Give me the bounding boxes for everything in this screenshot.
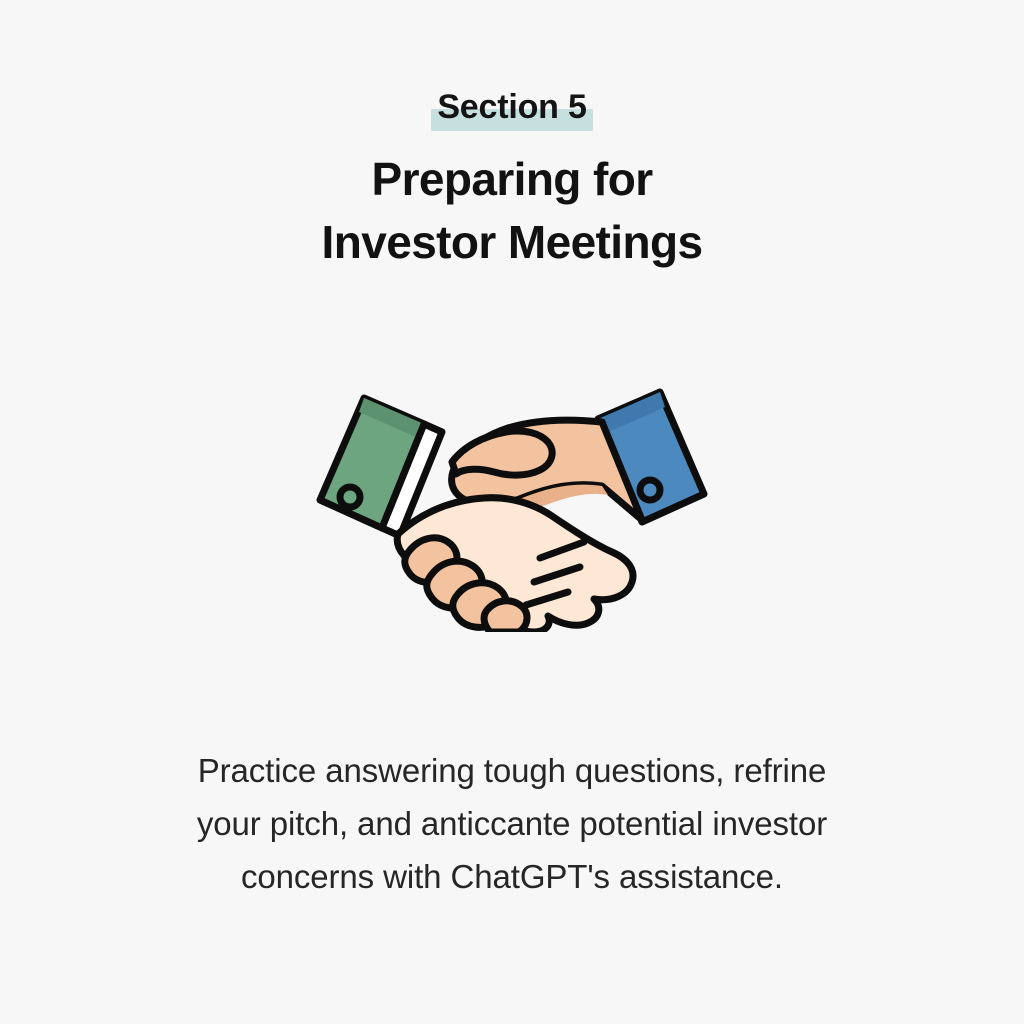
body-text: Practice answering tough questions, refr… <box>92 744 932 903</box>
page-title: Preparing for Investor Meetings <box>0 148 1024 274</box>
body-text-line-1: Practice answering tough questions, refr… <box>92 744 932 797</box>
body-text-line-2: your pitch, and anticcante potential inv… <box>92 797 932 850</box>
body-text-line-3: concerns with ChatGPT's assistance. <box>92 850 932 903</box>
page-title-line-1: Preparing for <box>0 148 1024 211</box>
handshake-illustration <box>302 362 722 632</box>
section-eyebrow: Section 5 <box>0 82 1024 138</box>
finger-4 <box>484 601 527 632</box>
left-thumb <box>452 431 552 475</box>
slide-canvas: Section 5 Preparing for Investor Meeting… <box>0 0 1024 1024</box>
handshake-icon <box>302 362 722 632</box>
section-eyebrow-label: Section 5 <box>437 88 586 126</box>
page-title-line-2: Investor Meetings <box>0 211 1024 274</box>
section-eyebrow-inner: Section 5 <box>431 82 592 132</box>
